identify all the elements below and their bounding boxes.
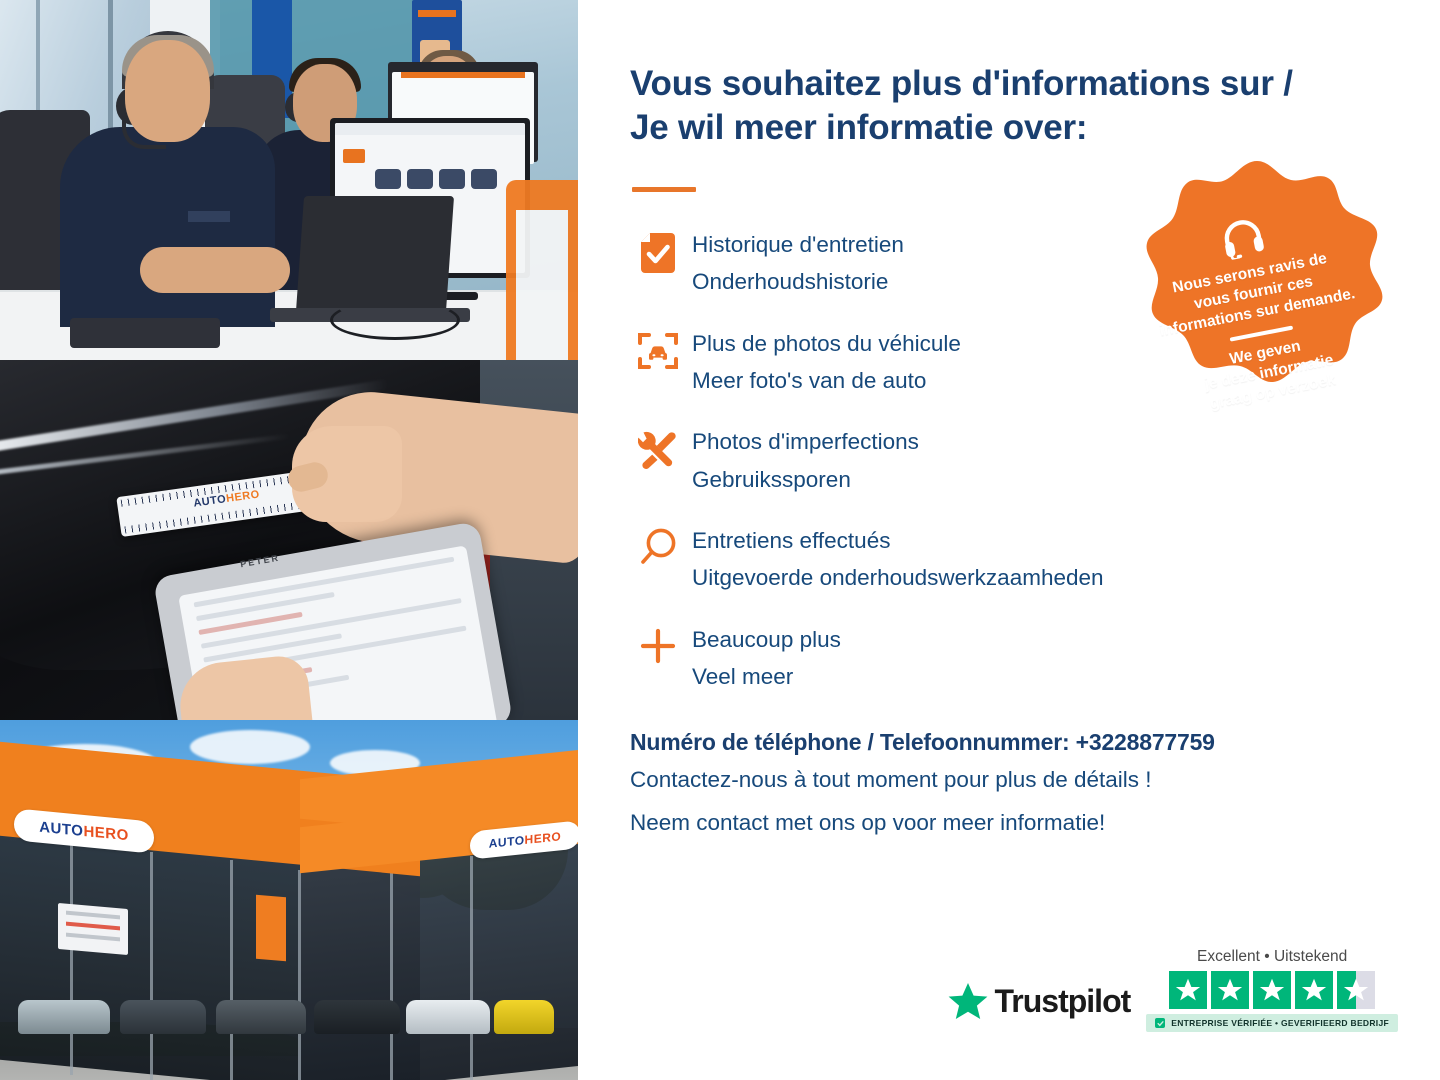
badge-text-nl: We geven je deze informatie graag op ver… [1199, 331, 1339, 415]
contact-line-fr: Contactez-nous à tout moment pour plus d… [630, 762, 1392, 798]
verified-badge: ENTREPRISE VÉRIFIÉE • GEVERIFIEERD BEDRI… [1146, 1014, 1398, 1032]
star-filled [1295, 971, 1333, 1009]
star-half [1337, 971, 1375, 1009]
list-item: Beaucoup plus Veel meer [630, 621, 1392, 696]
mullion [70, 840, 73, 1075]
plus-icon [630, 621, 686, 665]
star-filled [1253, 971, 1291, 1009]
promo-page: AUTOHERO PETER [0, 0, 1440, 1080]
showroom-car [216, 1000, 306, 1034]
desk-tablet [70, 318, 220, 348]
vehicle-inspection-photo: AUTOHERO PETER [0, 360, 578, 720]
list-item-text: Plus de photos du véhicule Meer foto's v… [686, 325, 961, 400]
list-item-nl: Uitgevoerde onderhoudswerkzaamheden [692, 559, 1104, 596]
content-column: Vous souhaitez plus d'informations sur /… [578, 0, 1440, 1080]
cable [330, 300, 460, 340]
list-item: Entretiens effectués Uitgevoerde onderho… [630, 522, 1392, 597]
showroom-glass-right [300, 833, 578, 1080]
interior-orange-panel [256, 895, 286, 962]
list-item-fr: Beaucoup plus [692, 627, 841, 652]
document-check-icon [630, 226, 686, 274]
mullion [390, 866, 393, 1080]
autohero-showroom-photo: AUTOHERO AUTOHERO [0, 720, 578, 1080]
rating-label: Excellent • Uitstekend [1197, 948, 1347, 966]
list-item-fr: Photos d'imperfections [692, 429, 919, 454]
sign-auto: AUTO [489, 833, 525, 851]
showroom-car [314, 1000, 400, 1034]
badge-content: Nous serons ravis de vous fournir ces in… [1097, 136, 1416, 485]
mullion [470, 856, 473, 1080]
photo-column: AUTOHERO PETER [0, 0, 578, 1080]
star-filled [1211, 971, 1249, 1009]
mullion [150, 852, 153, 1080]
orange-chair [506, 180, 578, 360]
trustpilot-star-icon [948, 982, 988, 1020]
star-filled [1169, 971, 1207, 1009]
call-center-agents-photo [0, 0, 578, 360]
page-title: Vous souhaitez plus d'informations sur /… [630, 62, 1392, 151]
verified-label: ENTREPRISE VÉRIFIÉE • GEVERIFIEERD BEDRI… [1171, 1018, 1389, 1028]
agent-foreground [60, 35, 300, 325]
laptop [296, 196, 454, 312]
list-item-nl: Onderhoudshistorie [692, 263, 904, 300]
trustpilot-brand: Trustpilot [995, 983, 1131, 1020]
status-badge: Nous serons ravis de vous fournir ces in… [1124, 159, 1390, 463]
list-item-nl: Gebruikssporen [692, 461, 919, 498]
list-item-text: Historique d'entretien Onderhoudshistori… [686, 226, 904, 301]
list-item-text: Beaucoup plus Veel meer [686, 621, 841, 696]
list-item-fr: Plus de photos du véhicule [692, 331, 961, 356]
trustpilot-rating-block: Excellent • Uitstekend ENTREPRISE VÉRIFI… [1146, 948, 1398, 1032]
list-item-nl: Veel meer [692, 658, 841, 695]
orange-divider [632, 187, 696, 192]
list-item-nl: Meer foto's van de auto [692, 362, 961, 399]
interior-poster [58, 903, 128, 955]
magnifier-icon [630, 522, 686, 568]
trustpilot-widget[interactable]: Trustpilot Excellent • Uitstekend ENTREP… [948, 948, 1399, 1032]
list-item-text: Photos d'imperfections Gebruikssporen [686, 423, 919, 498]
list-item-fr: Historique d'entretien [692, 232, 904, 257]
showroom-car [406, 1000, 490, 1034]
mullion [298, 870, 301, 1080]
headset-icon [1220, 215, 1267, 265]
list-item-fr: Entretiens effectués [692, 528, 890, 553]
trustpilot-logo: Trustpilot [948, 982, 1131, 1032]
check-icon [1155, 1018, 1165, 1028]
showroom-car [18, 1000, 110, 1034]
star-rating [1169, 971, 1375, 1009]
showroom-car [120, 1000, 206, 1034]
sign-hero: HERO [525, 829, 562, 847]
sign-hero: HERO [83, 822, 128, 843]
contact-line-nl: Neem contact met ons op voor meer inform… [630, 805, 1392, 841]
phone-number[interactable]: Numéro de téléphone / Telefoonnummer: +3… [630, 729, 1392, 756]
contact-block: Numéro de téléphone / Telefoonnummer: +3… [630, 729, 1392, 841]
sign-auto: AUTO [39, 818, 83, 839]
headline-line-nl: Je wil meer informatie over: [630, 108, 1087, 147]
showroom-car [494, 1000, 554, 1034]
tools-icon [630, 423, 686, 469]
car-photo-scan-icon [630, 325, 686, 371]
headline-line-fr: Vous souhaitez plus d'informations sur / [630, 64, 1293, 103]
cloud [190, 730, 310, 764]
list-item-text: Entretiens effectués Uitgevoerde onderho… [686, 522, 1104, 597]
mullion [230, 860, 233, 1080]
